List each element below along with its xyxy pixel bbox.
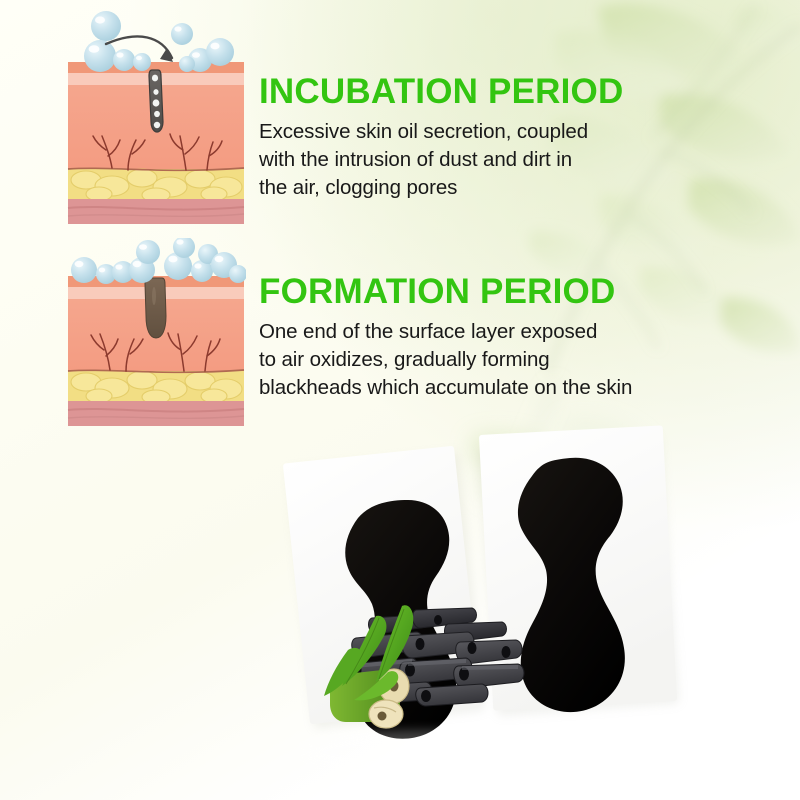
heading-incubation-period: INCUBATION PERIOD [259,74,679,111]
body-line: blackheads which accumulate on the skin [259,374,699,402]
section-incubation-text: INCUBATION PERIOD Excessive skin oil sec… [259,74,679,203]
section-formation-text: FORMATION PERIOD One end of the surface … [259,274,699,403]
body-incubation-period: Excessive skin oil secretion, coupled wi… [259,118,679,203]
body-line: to air oxidizes, gradually forming [259,346,699,374]
body-formation-period: One end of the surface layer exposed to … [259,318,699,403]
infographic-page: INCUBATION PERIOD Excessive skin oil sec… [0,0,800,800]
body-line: One end of the surface layer exposed [259,318,699,346]
body-line: Excessive skin oil secretion, coupled [259,118,679,146]
body-line: the air, clogging pores [259,174,679,202]
illustration-incubation-skin-cross-section [66,4,246,226]
heading-formation-period: FORMATION PERIOD [259,274,699,311]
body-line: with the intrusion of dust and dirt in [259,146,679,174]
illustration-formation-skin-cross-section [66,238,246,428]
product-photo-nose-strips [280,400,800,800]
